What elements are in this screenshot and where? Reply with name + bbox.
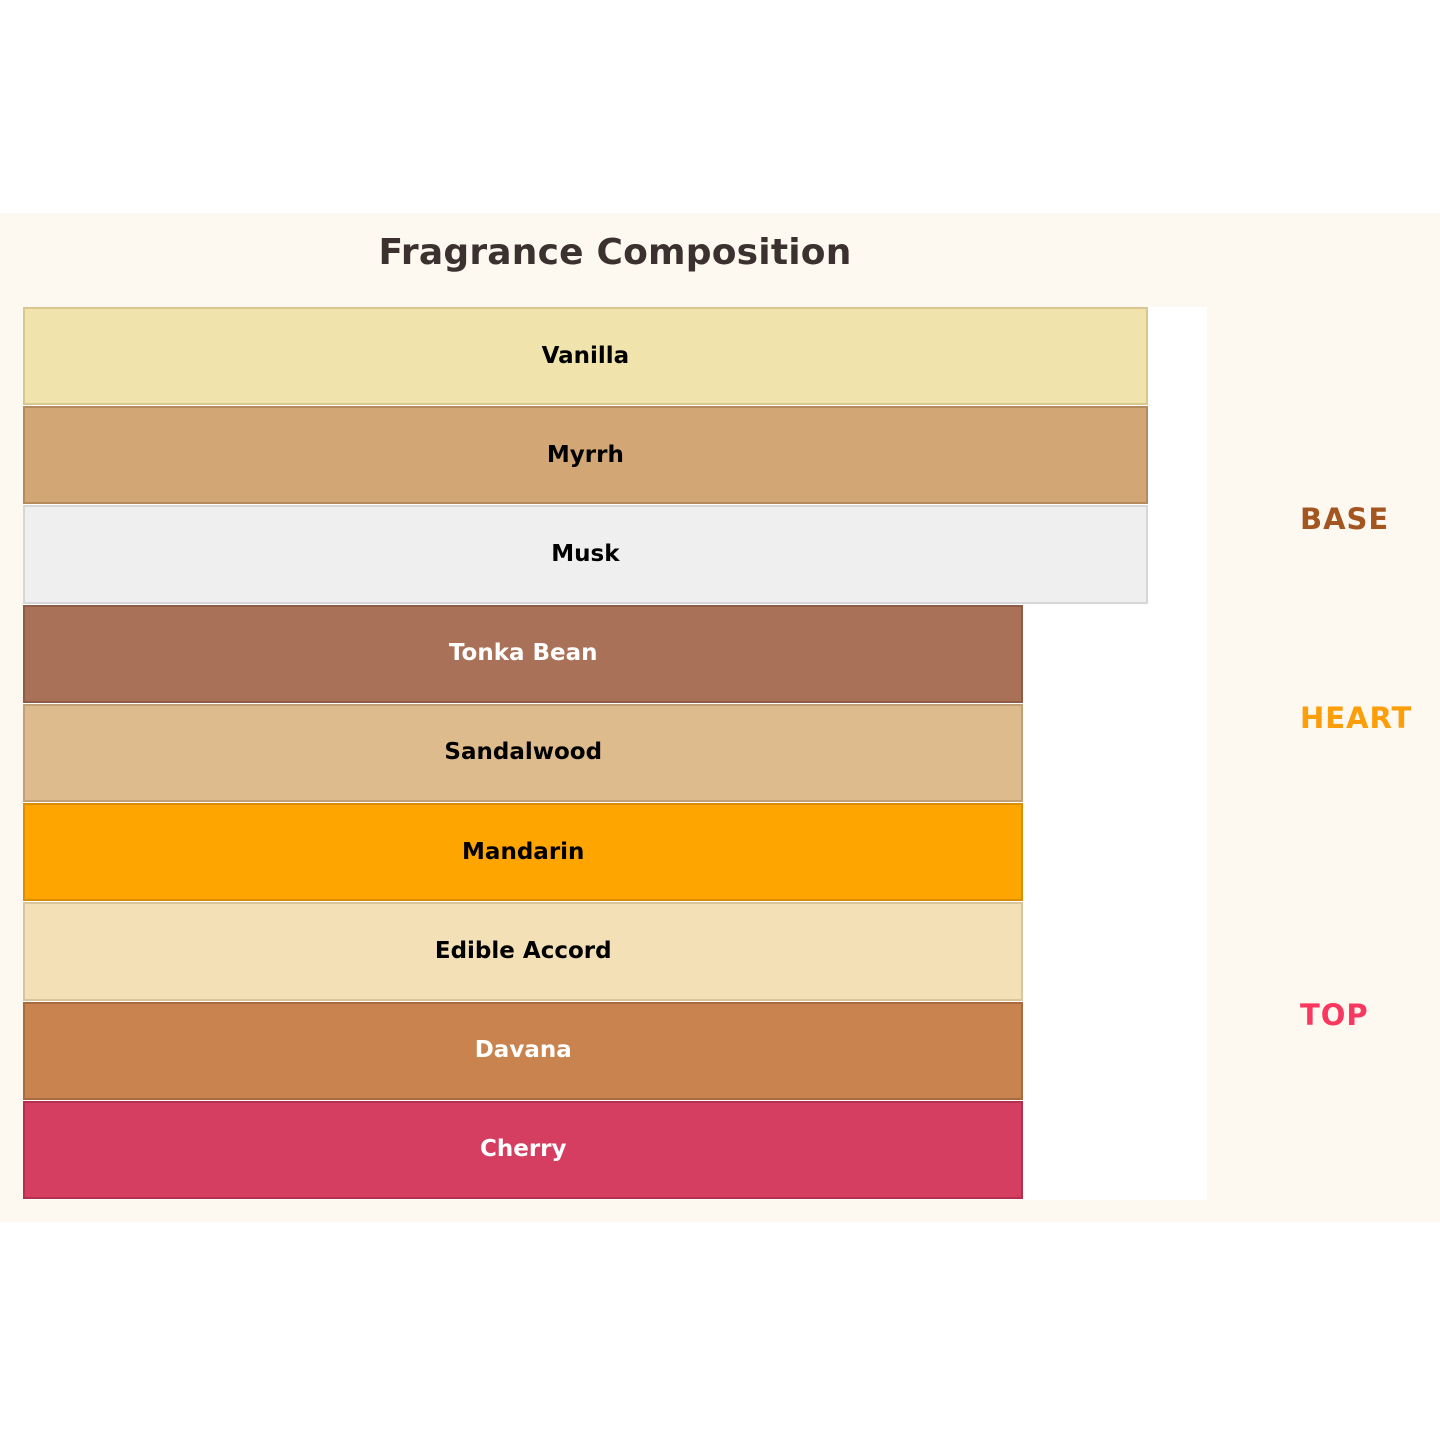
group-label-top: TOP (1300, 1001, 1369, 1030)
bar-label: Tonka Bean (449, 642, 598, 665)
bar-mandarin[interactable]: Mandarin (23, 803, 1023, 901)
group-label-heart: HEART (1300, 704, 1412, 733)
bar-vanilla[interactable]: Vanilla (23, 307, 1148, 405)
bar-label: Sandalwood (444, 741, 602, 764)
bar-label: Myrrh (547, 444, 624, 467)
bar-musk[interactable]: Musk (23, 505, 1148, 603)
bar-label: Edible Accord (435, 940, 612, 963)
group-label-base: BASE (1300, 505, 1389, 534)
bar-label: Cherry (480, 1138, 567, 1161)
bar-label: Vanilla (542, 345, 630, 368)
bar-label: Musk (551, 543, 619, 566)
plot-area: VanillaMyrrhMuskTonka BeanSandalwoodMand… (23, 307, 1207, 1200)
bar-edible-accord[interactable]: Edible Accord (23, 902, 1023, 1000)
figure-background: Fragrance Composition VanillaMyrrhMuskTo… (0, 213, 1440, 1222)
bar-label: Mandarin (462, 841, 584, 864)
screenshot-canvas: Fragrance Composition VanillaMyrrhMuskTo… (0, 0, 1440, 1440)
page-title: Fragrance Composition (23, 232, 1207, 273)
bar-davana[interactable]: Davana (23, 1002, 1023, 1100)
bar-cherry[interactable]: Cherry (23, 1101, 1023, 1199)
bar-myrrh[interactable]: Myrrh (23, 406, 1148, 504)
bar-label: Davana (475, 1039, 572, 1062)
bar-sandalwood[interactable]: Sandalwood (23, 704, 1023, 802)
bar-tonka-bean[interactable]: Tonka Bean (23, 605, 1023, 703)
